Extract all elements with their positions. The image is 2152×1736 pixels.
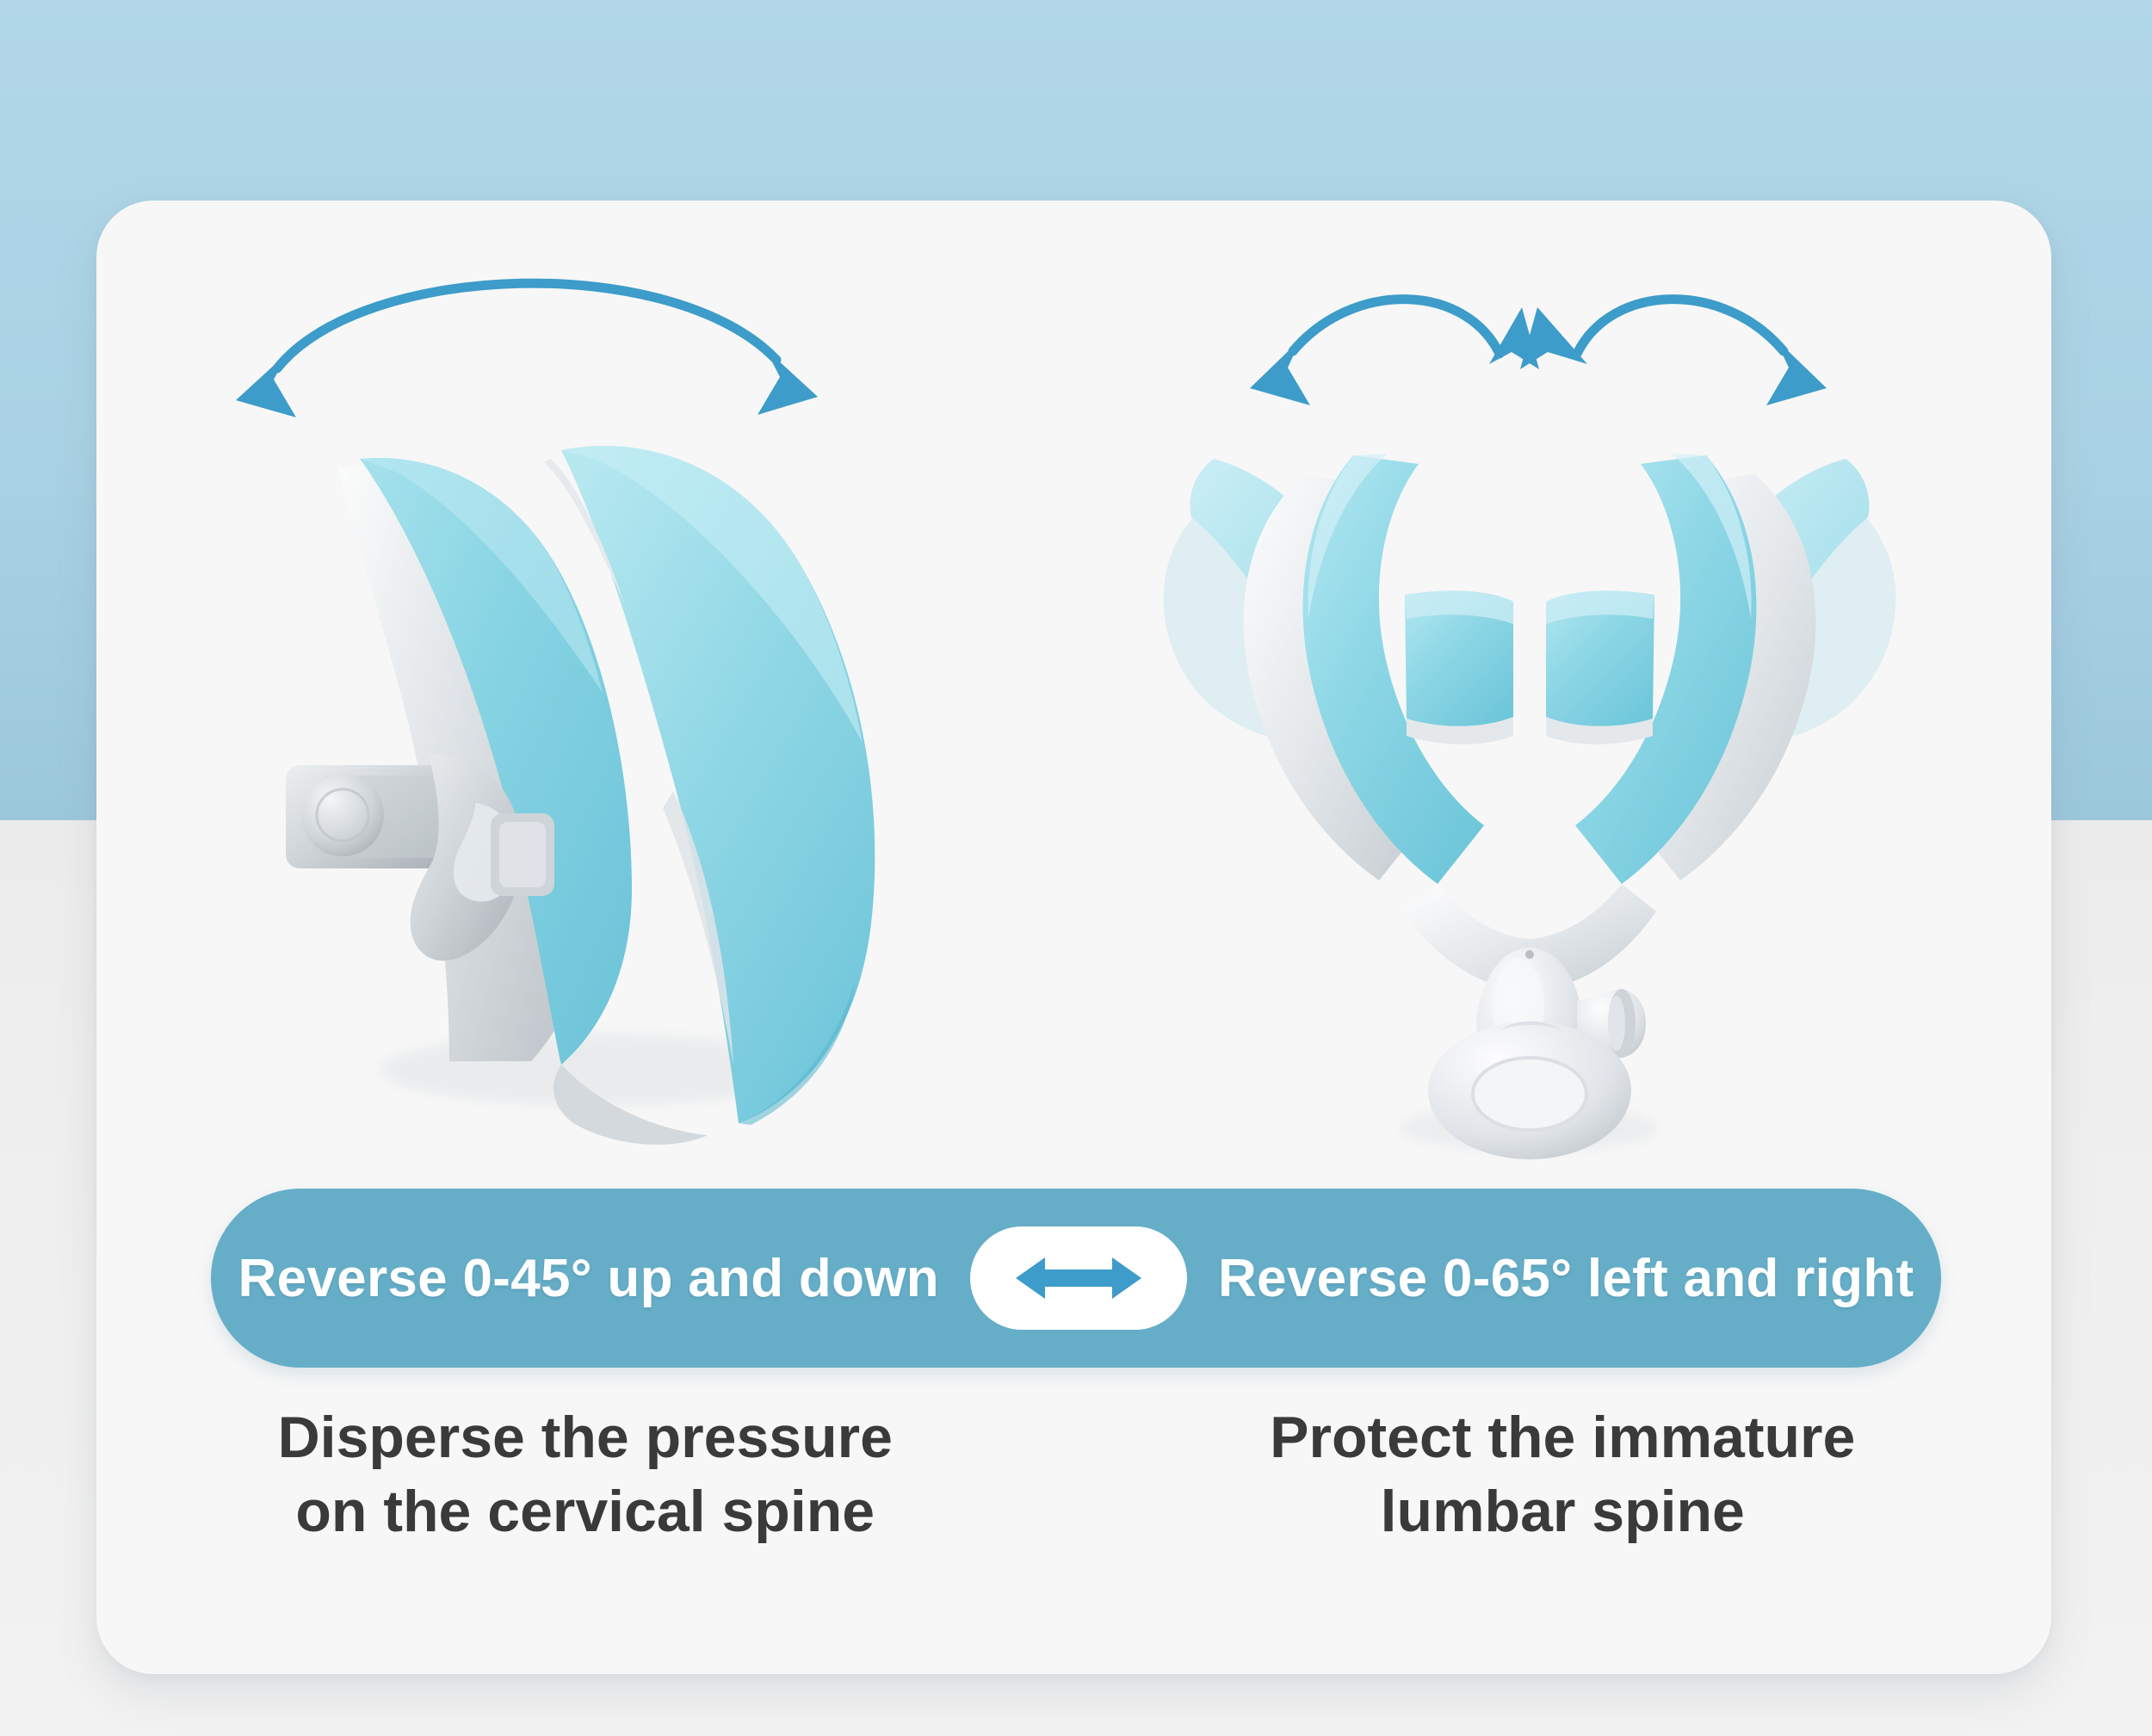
- ring-handle: [1428, 1022, 1631, 1160]
- caption-left-line2: on the cervical spine: [96, 1475, 1074, 1549]
- caption-left: Disperse the pressure on the cervical sp…: [96, 1401, 1074, 1548]
- feature-card: Reverse 0-45° up and down Reverse 0-65° …: [96, 201, 2051, 1674]
- illustration-row: [96, 201, 2051, 1182]
- caption-right-line1: Protect the immature: [1074, 1401, 2052, 1475]
- product-feature-infographic: Reverse 0-45° up and down Reverse 0-65° …: [0, 0, 2152, 1736]
- spec-right-label: Reverse 0-65° left and right: [1218, 1248, 1914, 1309]
- illustration-lumbar-support: [1095, 201, 1964, 1182]
- pivot-knob: [301, 774, 384, 856]
- arc-arrow-up-down: [236, 283, 818, 417]
- illustration-cervical-support: [191, 201, 1035, 1182]
- caption-right-line2: lumbar spine: [1074, 1475, 2052, 1549]
- arc-arrow-right: [1520, 300, 1827, 405]
- double-arrow-horizontal-icon: [1007, 1244, 1150, 1313]
- caption-row: Disperse the pressure on the cervical sp…: [96, 1401, 2051, 1548]
- caption-left-line1: Disperse the pressure: [96, 1401, 1074, 1475]
- toggle-pill[interactable]: [970, 1226, 1187, 1330]
- arc-arrow-left: [1250, 300, 1539, 405]
- caption-right: Protect the immature lumbar spine: [1074, 1401, 2052, 1548]
- spec-banner: Reverse 0-45° up and down Reverse 0-65° …: [211, 1189, 1941, 1368]
- spec-left-label: Reverse 0-45° up and down: [238, 1248, 939, 1309]
